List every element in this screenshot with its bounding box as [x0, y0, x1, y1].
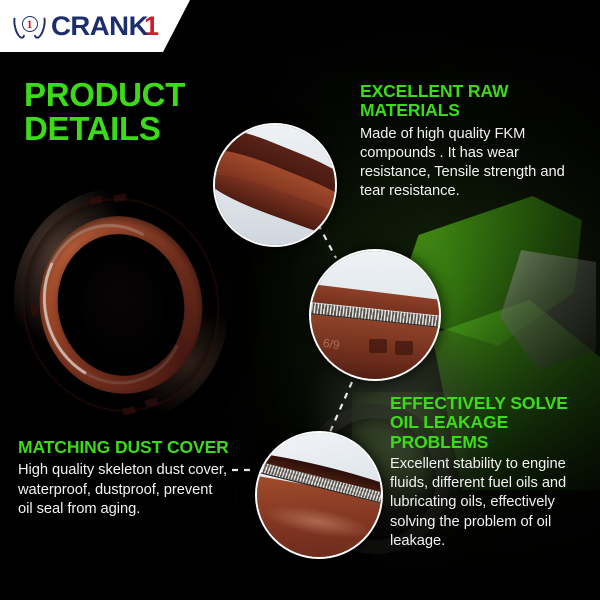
product-oil-seal-hero — [0, 170, 248, 441]
section-heading-raw-materials: EXCELLENT RAW MATERIALS — [360, 82, 590, 121]
page-title-line2: DETAILS — [24, 112, 254, 146]
emblem-number: 1 — [27, 18, 33, 30]
seal-marking: 6/9 — [322, 336, 340, 352]
laurel-wreath-icon: 1 — [14, 11, 45, 42]
page-title-line1: PRODUCT — [24, 78, 254, 112]
header-banner: 1 CRANK 1 — [0, 0, 190, 52]
seal-tab — [369, 339, 387, 353]
section-heading-oil-leakage: EFFECTIVELY SOLVE OIL LEAKAGE PROBLEMS — [390, 394, 595, 452]
callout-circle-dust-cover — [255, 431, 383, 559]
brand-logo: CRANK 1 — [52, 11, 159, 42]
infographic-canvas: 6/9 1 CRANK 1 PRODUCT DETAILS EXCELLENT … — [0, 0, 600, 600]
section-body-oil-leakage: Excellent stability to engine fluids, di… — [390, 455, 595, 551]
section-body-raw-materials: Made of high quality FKM compounds . It … — [360, 125, 590, 201]
section-body-dust-cover: High quality skeleton dust cover, waterp… — [18, 461, 230, 518]
callout-circle-spring: 6/9 — [309, 249, 441, 381]
brand-name: CRANK — [51, 11, 148, 42]
section-heading-dust-cover: MATCHING DUST COVER — [18, 438, 230, 457]
emblem-circle: 1 — [22, 16, 38, 32]
section-oil-leakage: EFFECTIVELY SOLVE OIL LEAKAGE PROBLEMS E… — [390, 394, 595, 551]
section-raw-materials: EXCELLENT RAW MATERIALS Made of high qua… — [360, 82, 590, 201]
connector-line-bottom — [330, 382, 352, 432]
page-title: PRODUCT DETAILS — [24, 78, 254, 145]
section-dust-cover: MATCHING DUST COVER High quality skeleto… — [18, 438, 230, 519]
seal-tab — [395, 341, 413, 355]
